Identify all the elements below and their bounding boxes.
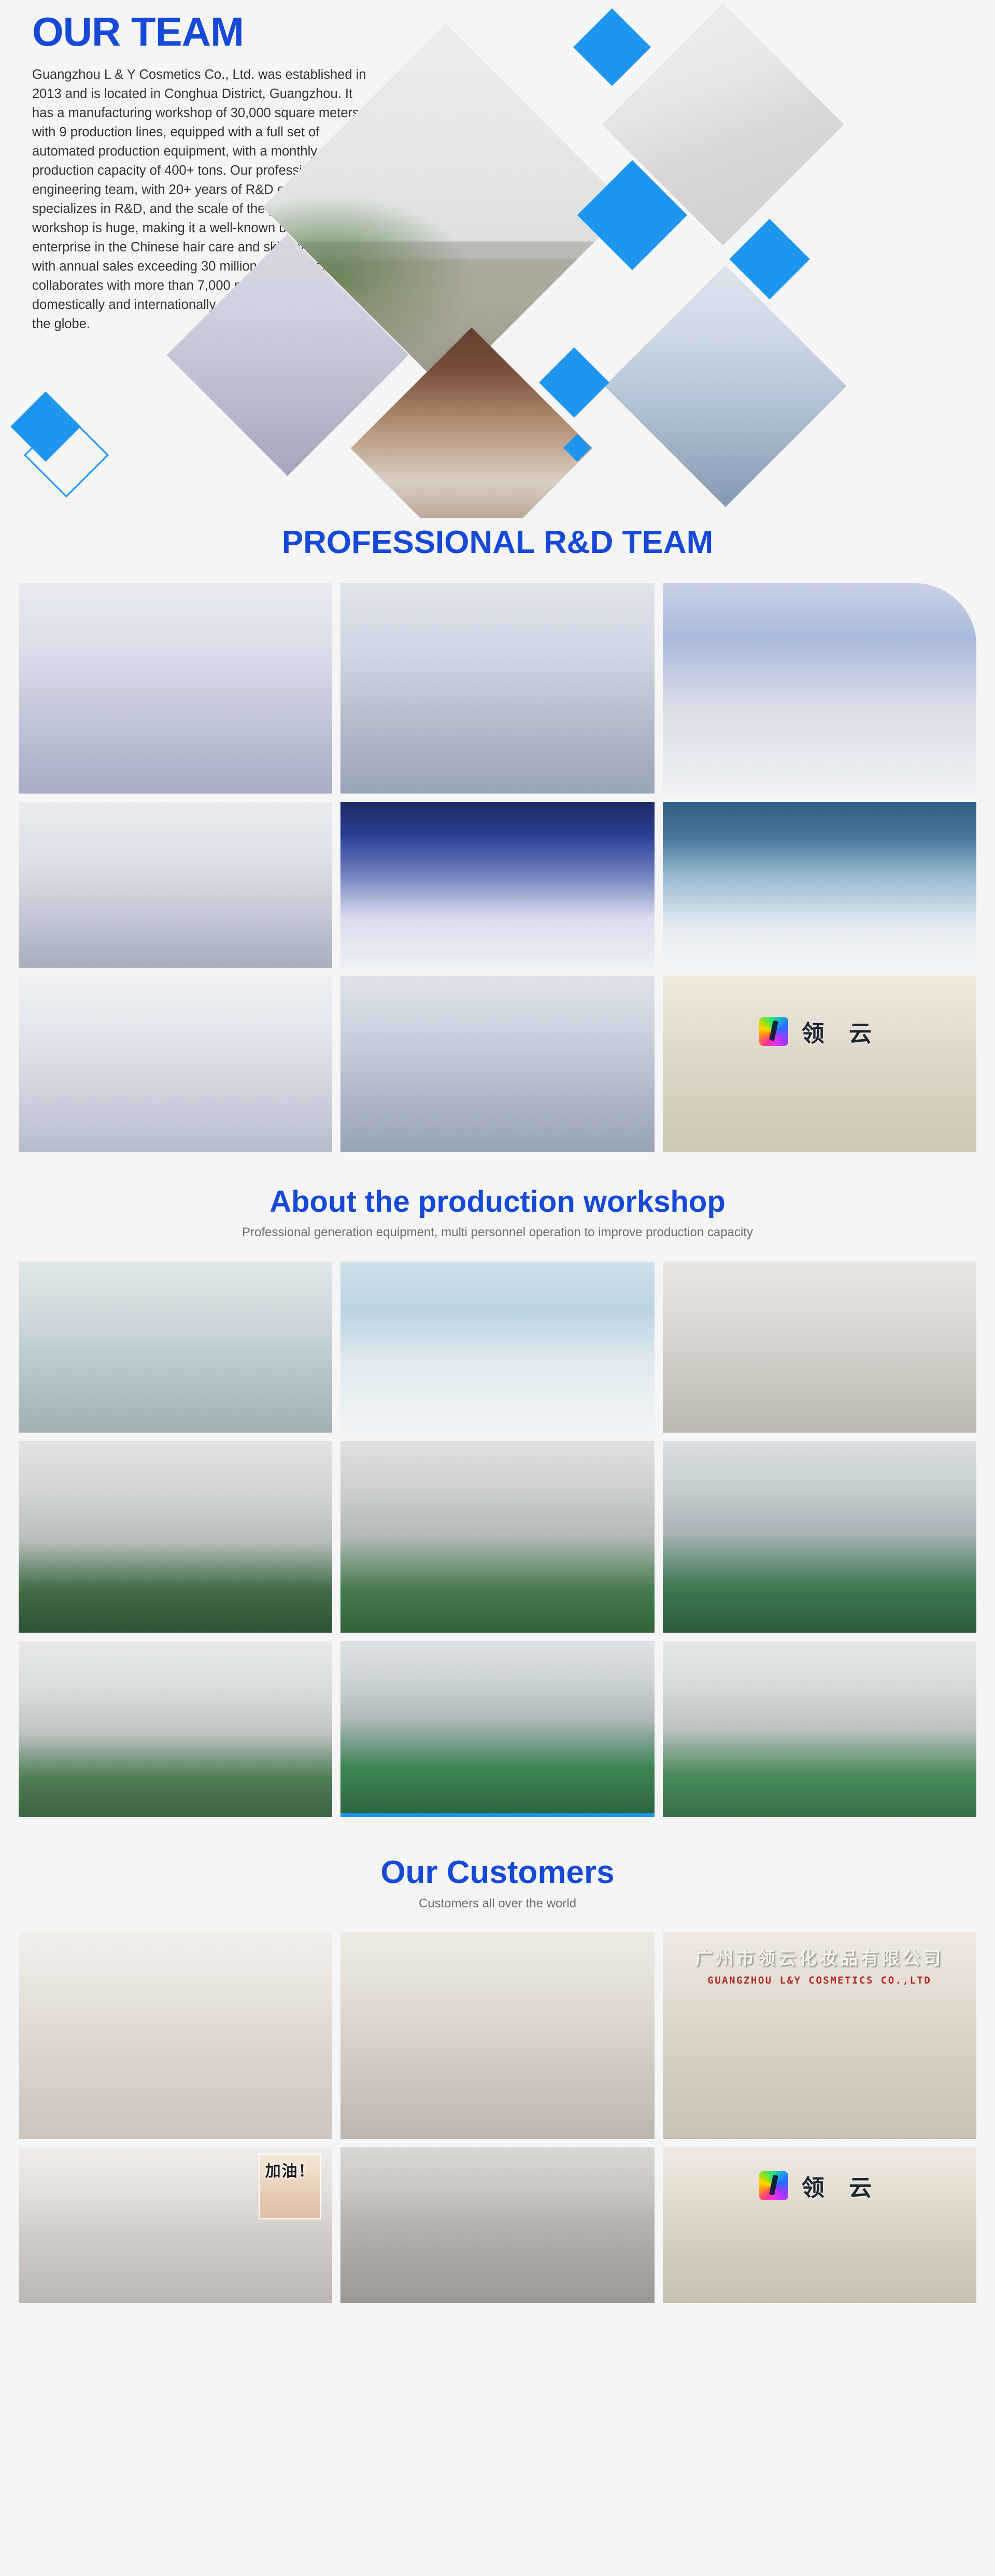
workshop-photo-3 (663, 1262, 976, 1433)
workshop-photo-5-image (340, 1441, 654, 1633)
customer-photo-5-image (340, 2147, 654, 2303)
rnd-photo-9: 领 云 (663, 976, 976, 1152)
workshop-photo-7-image (19, 1641, 332, 1817)
workshop-photo-8 (340, 1641, 654, 1817)
workshop-photo-5 (340, 1441, 654, 1633)
rnd-photo-2 (340, 583, 654, 794)
customer-photo-5 (340, 2147, 654, 2303)
accent-diamond-top-icon (573, 8, 651, 86)
workshop-photo-6 (663, 1441, 976, 1633)
workshop-photo-9-image (663, 1641, 976, 1817)
customer-photo-6: 领 云 (663, 2147, 976, 2303)
jiayou-sticker: 加油！ (259, 2154, 321, 2219)
customers-subtitle: Customers all over the world (0, 1896, 995, 1911)
workshop-photo-9 (663, 1641, 976, 1817)
rnd-photo-4-image (19, 802, 332, 968)
rnd-photo-7 (19, 976, 332, 1152)
customer-photo-1-image (19, 1932, 332, 2139)
workshop-title: About the production workshop (0, 1186, 995, 1218)
rnd-team-heading: PROFESSIONAL R&D TEAM (0, 526, 995, 559)
workshop-subtitle: Professional generation equipment, multi… (0, 1225, 995, 1240)
rnd-photo-9-image (663, 976, 976, 1152)
rnd-photo-4 (19, 802, 332, 968)
rnd-photo-6 (663, 802, 976, 968)
customers-photo-grid: 广州市领云化妆品有限公司 GUANGZHOU L&Y COSMETICS CO.… (0, 1932, 995, 2303)
workshop-photo-1 (19, 1262, 332, 1433)
workshop-photo-8-image (340, 1641, 654, 1817)
company-profile-page: OUR TEAM Guangzhou L & Y Cosmetics Co., … (0, 0, 995, 2334)
customer-photo-2-image (340, 1932, 654, 2139)
rnd-photo-2-image (340, 583, 654, 794)
production-workshop-section: About the production workshop Profession… (0, 1152, 995, 1817)
rnd-photo-5-image (340, 802, 654, 968)
customer-photo-6-image (663, 2147, 976, 2303)
our-customers-section: Our Customers Customers all over the wor… (0, 1817, 995, 2334)
rnd-team-title: PROFESSIONAL R&D TEAM (0, 526, 995, 559)
workshop-photo-7 (19, 1641, 332, 1817)
jiayou-sticker-label: 加油！ (265, 2158, 315, 2181)
workshop-heading: About the production workshop Profession… (0, 1186, 995, 1240)
workshop-photo-6-image (663, 1441, 976, 1633)
rnd-photo-6-image (663, 802, 976, 968)
workshop-photo-3-image (663, 1262, 976, 1433)
workshop-photo-1-image (19, 1262, 332, 1433)
packing-line-photo (605, 265, 847, 507)
rnd-photo-grid: 领 云 (0, 583, 995, 1152)
workshop-photo-2 (340, 1262, 654, 1433)
rnd-photo-5 (340, 802, 654, 968)
customer-photo-3-image (663, 1932, 976, 2139)
workshop-photo-8-accent-band (340, 1813, 654, 1817)
rnd-photo-3 (663, 583, 976, 794)
packing-line-image (605, 265, 847, 507)
customers-heading: Our Customers Customers all over the wor… (0, 1856, 995, 1911)
customer-photo-4: 加油！ (19, 2147, 332, 2303)
workshop-photo-2-image (340, 1262, 654, 1433)
customer-photo-1 (19, 1932, 332, 2139)
rnd-photo-7-image (19, 976, 332, 1152)
customers-title: Our Customers (0, 1856, 995, 1889)
workshop-photo-4-image (19, 1441, 332, 1633)
rnd-photo-3-image (663, 583, 976, 794)
customer-photo-3: 广州市领云化妆品有限公司 GUANGZHOU L&Y COSMETICS CO.… (663, 1932, 976, 2139)
workshop-photo-grid (0, 1262, 995, 1817)
rnd-photo-8-image (340, 976, 654, 1152)
rnd-photo-8 (340, 976, 654, 1152)
rnd-photo-1 (19, 583, 332, 794)
rnd-photo-1-image (19, 583, 332, 794)
our-team-section: OUR TEAM Guangzhou L & Y Cosmetics Co., … (0, 0, 995, 518)
workshop-photo-4 (19, 1441, 332, 1633)
customer-photo-2 (340, 1932, 654, 2139)
rnd-team-section: PROFESSIONAL R&D TEAM (0, 518, 995, 1152)
our-team-diamond-collage (228, 0, 995, 518)
